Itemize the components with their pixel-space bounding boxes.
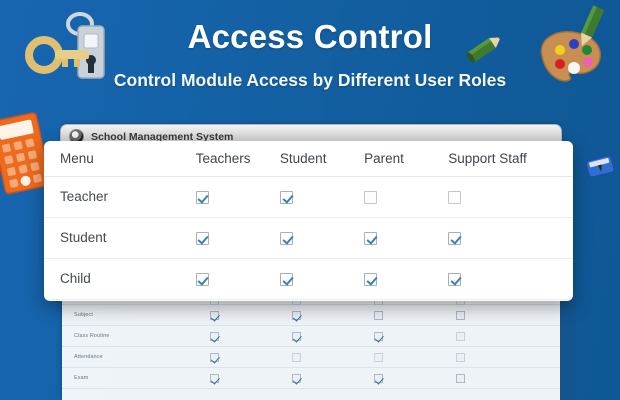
column-header-menu: Menu [44,141,196,176]
bg-checkbox-student [292,353,374,362]
bg-checkbox-support-staff [456,374,538,383]
row-label-teacher: Teacher [44,176,196,217]
table-row: Child [44,258,573,299]
row-label-student: Student [44,217,196,258]
column-header-student: Student [280,141,364,176]
checkbox-child-support-staff[interactable] [448,258,573,299]
bg-checkbox-student [292,311,374,320]
bg-checkbox-student [292,332,374,341]
column-header-teachers: Teachers [196,141,280,176]
bg-checkbox-parent [374,353,456,362]
table-row: Exam [62,368,560,389]
background-permissions-table: Subject Class Routine Attendance Exam [62,296,560,400]
checkbox-teacher-teachers[interactable] [196,176,280,217]
bg-row-label: Attendance [74,354,210,360]
bg-checkbox-teachers [210,332,292,341]
table-row: Class Routine [62,326,560,347]
background-accent-strip [560,296,576,400]
bg-checkbox-teachers [210,311,292,320]
bg-checkbox-student [292,374,374,383]
checkbox-child-parent[interactable] [364,258,448,299]
checkbox-child-teachers[interactable] [196,258,280,299]
checkbox-student-teachers[interactable] [196,217,280,258]
column-header-parent: Parent [364,141,448,176]
checkbox-student-parent[interactable] [364,217,448,258]
page-subtitle: Control Module Access by Different User … [0,70,620,91]
calculator-icon [0,112,50,196]
pencil-sharpener-icon [582,148,618,184]
bg-row-label: Class Routine [74,333,210,339]
bg-checkbox-parent [374,311,456,320]
column-header-support-staff: Support Staff [448,141,573,176]
access-control-banner: Access Control Control Module Access by … [0,0,620,400]
bg-checkbox-teachers [210,353,292,362]
row-label-child: Child [44,258,196,299]
bg-checkbox-support-staff [456,353,538,362]
bg-row-label: Exam [74,375,210,381]
bg-checkbox-support-staff [456,332,538,341]
checkbox-student-support-staff[interactable] [448,217,573,258]
page-title: Access Control [0,18,620,56]
bg-checkbox-parent [374,374,456,383]
checkbox-teacher-support-staff[interactable] [448,176,573,217]
checkbox-student-student[interactable] [280,217,364,258]
access-control-table: Menu Teachers Student Parent Support Sta… [44,141,573,300]
table-row: Subject [62,305,560,326]
table-header-row: Menu Teachers Student Parent Support Sta… [44,141,573,176]
bg-checkbox-support-staff [456,311,538,320]
bg-checkbox-parent [374,332,456,341]
checkbox-teacher-student[interactable] [280,176,364,217]
access-control-modal: Menu Teachers Student Parent Support Sta… [44,141,573,301]
table-row: Attendance [62,347,560,368]
table-row: Teacher [44,176,573,217]
bg-checkbox-teachers [210,374,292,383]
table-row: Student [44,217,573,258]
checkbox-child-student[interactable] [280,258,364,299]
bg-row-label: Subject [74,312,210,318]
checkbox-teacher-parent[interactable] [364,176,448,217]
